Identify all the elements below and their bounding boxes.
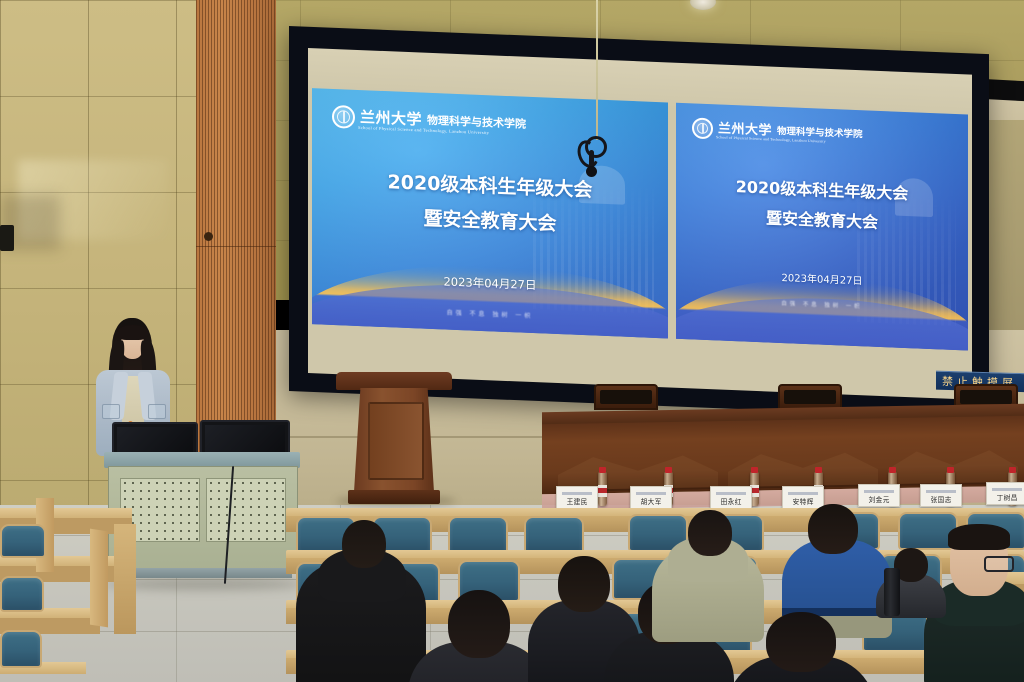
slide-department-cn: 物理科学与技术学院	[427, 115, 526, 130]
audience-member	[296, 512, 426, 682]
audience-member	[726, 612, 876, 682]
name-card[interactable]: 丁树昌	[986, 482, 1024, 505]
lecture-seat[interactable]	[524, 516, 584, 554]
console-base	[112, 568, 292, 578]
lecture-seat[interactable]	[0, 524, 46, 558]
microphone-cable	[596, 0, 598, 140]
microphone-capsule	[586, 166, 597, 177]
projected-slide-left: 兰州大学 物理科学与技术学院 School of Physical Scienc…	[312, 88, 668, 338]
presenter-pocket	[102, 404, 120, 419]
name-card-text: 王建民	[566, 497, 587, 507]
lecture-seat[interactable]	[0, 576, 44, 612]
lecture-seat[interactable]	[448, 516, 508, 554]
water-bottle[interactable]	[598, 472, 607, 506]
lectern-front-panel	[368, 402, 424, 480]
projection-screen-surface[interactable]: 兰州大学 物理科学与技术学院 School of Physical Scienc…	[308, 48, 972, 400]
lectern-base	[348, 490, 440, 504]
university-seal-icon	[692, 117, 713, 139]
thermos-bottle[interactable]	[884, 568, 900, 616]
console-vent-panel-right	[206, 478, 286, 542]
lecture-hall-photo: 兰州大学 物理科学与技术学院 School of Physical Scienc…	[0, 0, 1024, 682]
lecture-seat[interactable]	[0, 630, 42, 668]
name-card[interactable]: 王建民	[556, 486, 598, 509]
wooden-lectern[interactable]	[344, 372, 444, 504]
eyeglasses-icon	[984, 556, 1014, 572]
head-table-chair[interactable]	[778, 384, 842, 410]
wall-speaker-icon	[0, 225, 14, 251]
audience-member	[408, 590, 548, 682]
lectern-top	[336, 372, 452, 390]
tiered-desk-side	[90, 529, 108, 628]
wall-knob-icon	[204, 232, 213, 241]
presenter-fringe	[117, 325, 148, 340]
presenter-pocket	[148, 404, 166, 419]
projected-slide-right: 兰州大学 物理科学与技术学院 School of Physical Scienc…	[676, 103, 968, 351]
tiered-desk-riser	[114, 524, 136, 634]
head-table: 王建民 胡大军 田永红 安特辉 刘金元 张国志 丁树昌	[542, 398, 1024, 498]
university-seal-icon	[332, 105, 355, 129]
audience-hair	[948, 524, 1010, 550]
name-card-text: 张国志	[930, 495, 951, 505]
name-card-text: 丁树昌	[996, 493, 1017, 503]
wood-column-seam	[196, 246, 276, 247]
head-table-chair[interactable]	[594, 384, 658, 410]
name-card[interactable]: 张国志	[920, 484, 962, 507]
audience-member	[652, 506, 764, 626]
